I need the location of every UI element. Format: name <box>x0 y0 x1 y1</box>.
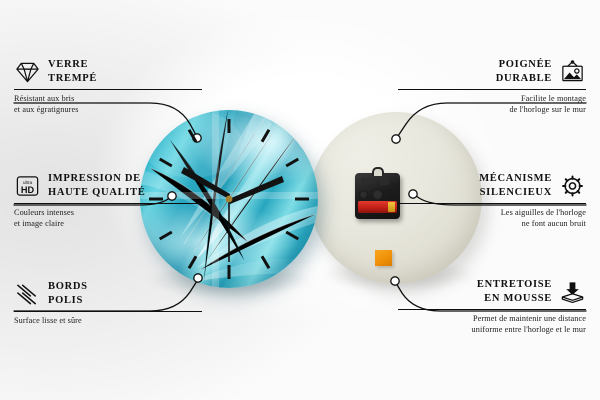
callout-header: VERRE TREMPÉ <box>14 58 202 85</box>
subtitle-line-1: Facilite le montage <box>398 93 586 105</box>
callout-header: MÉCANISME SILENCIEUX <box>398 172 586 199</box>
diamond-icon <box>14 60 41 84</box>
callout-subtitle: Permet de maintenir une distance uniform… <box>398 313 586 336</box>
callout-divider <box>398 309 586 310</box>
callout-title: POIGNÉE DURABLE <box>496 58 552 85</box>
title-line-1: POIGNÉE <box>496 58 552 72</box>
callout-header: ENTRETOISE EN MOUSSE <box>398 278 586 305</box>
subtitle-line-1: Les aiguilles de l'horloge <box>398 207 586 219</box>
callout-header: ultra HD IMPRESSION DE HAUTE QUALITÉ <box>14 172 202 199</box>
hanger-loop-icon <box>372 167 384 176</box>
title-line-2: POLIS <box>48 294 88 308</box>
callout-divider <box>14 89 202 90</box>
callout-subtitle: Les aiguilles de l'horloge ne font aucun… <box>398 207 586 230</box>
title-line-2: TREMPÉ <box>48 72 97 86</box>
subtitle-line-2: et aux égratignures <box>14 104 202 116</box>
callout-impression-haute-qualite[interactable]: ultra HD IMPRESSION DE HAUTE QUALITÉ Cou… <box>14 172 202 230</box>
callout-divider <box>398 89 586 90</box>
callout-divider <box>14 203 202 204</box>
callout-verre-trempe[interactable]: VERRE TREMPÉ Résistant aux bris et aux é… <box>14 58 202 116</box>
subtitle-line-1: Permet de maintenir une distance <box>398 313 586 325</box>
title-line-1: BORDS <box>48 280 88 294</box>
callout-header: POIGNÉE DURABLE <box>398 58 586 85</box>
callout-title: VERRE TREMPÉ <box>48 58 97 85</box>
polished-edges-icon <box>14 282 41 306</box>
subtitle-line-1: Résistant aux bris <box>14 93 202 105</box>
hand-pivot <box>226 196 233 203</box>
callout-title: IMPRESSION DE HAUTE QUALITÉ <box>48 172 146 199</box>
callout-entretoise-en-mousse[interactable]: ENTRETOISE EN MOUSSE Permet de maintenir… <box>398 278 586 336</box>
minute-hand <box>229 176 284 204</box>
picture-hanger-icon <box>559 60 586 84</box>
connector-dot-poignee <box>392 135 400 143</box>
infographic-stage: VERRE TREMPÉ Résistant aux bris et aux é… <box>0 0 600 400</box>
callout-subtitle: Résistant aux bris et aux égratignures <box>14 93 202 116</box>
clock-mechanism <box>355 173 400 219</box>
callout-poignee-durable[interactable]: POIGNÉE DURABLE Facilite le montage de l… <box>398 58 586 116</box>
title-line-1: MÉCANISME <box>479 172 552 186</box>
callout-mecanisme-silencieux[interactable]: MÉCANISME SILENCIEUX Les aiguilles de l'… <box>398 172 586 230</box>
mechanism-dial-a <box>359 190 368 199</box>
callout-bords-polis[interactable]: BORDS POLIS Surface lisse et sûre <box>14 280 202 326</box>
callout-title: MÉCANISME SILENCIEUX <box>479 172 552 199</box>
title-line-2: EN MOUSSE <box>477 292 552 306</box>
title-line-2: SILENCIEUX <box>479 186 552 200</box>
subtitle-line-1: Surface lisse et sûre <box>14 315 202 327</box>
title-line-2: HAUTE QUALITÉ <box>48 186 146 200</box>
mechanism-slot <box>361 178 377 183</box>
subtitle-line-2: de l'horloge sur le mur <box>398 104 586 116</box>
subtitle-line-1: Couleurs intenses <box>14 207 202 219</box>
badge-text-bottom: HD <box>21 185 35 195</box>
ultra-hd-badge-icon: ultra HD <box>14 174 41 198</box>
callout-title: BORDS POLIS <box>48 280 88 307</box>
mechanism-dial-b <box>372 189 383 200</box>
title-line-2: DURABLE <box>496 72 552 86</box>
title-line-1: ENTRETOISE <box>477 278 552 292</box>
battery-cap <box>388 202 395 212</box>
callout-subtitle: Surface lisse et sûre <box>14 315 202 327</box>
foam-spacer-icon <box>559 280 586 304</box>
subtitle-line-2: ne font aucun bruit <box>398 218 586 230</box>
subtitle-line-2: uniforme entre l'horloge et le mur <box>398 324 586 336</box>
foam-spacer <box>375 250 392 266</box>
subtitle-line-2: et image claire <box>14 218 202 230</box>
callout-divider <box>14 311 202 312</box>
callout-title: ENTRETOISE EN MOUSSE <box>477 278 552 305</box>
callout-header: BORDS POLIS <box>14 280 202 307</box>
aa-battery <box>358 201 397 213</box>
title-line-1: IMPRESSION DE <box>48 172 146 186</box>
mechanism-slot-2 <box>380 178 389 185</box>
callout-divider <box>398 203 586 204</box>
title-line-1: VERRE <box>48 58 97 72</box>
callout-subtitle: Facilite le montage de l'horloge sur le … <box>398 93 586 116</box>
gear-icon <box>559 174 586 198</box>
callout-subtitle: Couleurs intenses et image claire <box>14 207 202 230</box>
